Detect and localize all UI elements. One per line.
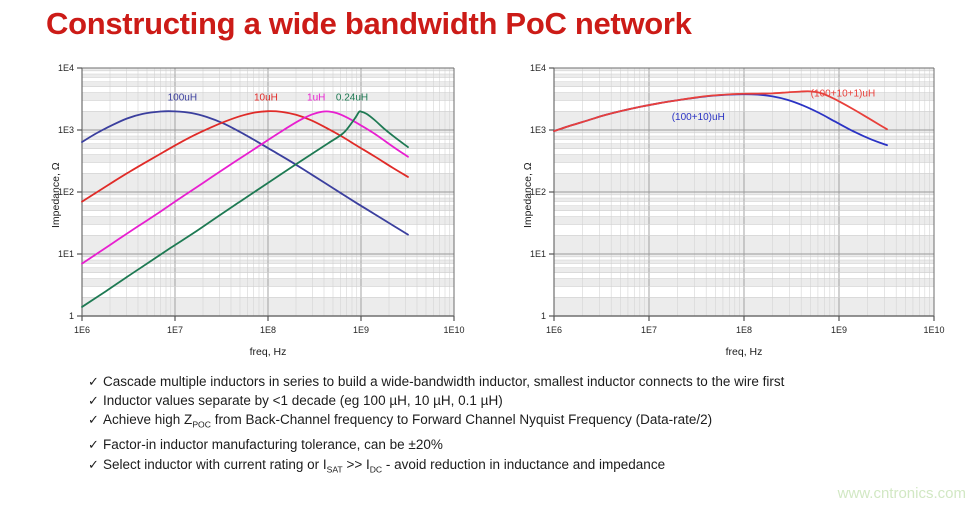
bullet-subscript: DC (370, 464, 382, 474)
svg-text:1E6: 1E6 (74, 325, 90, 335)
chart-right-svg: 1E41E31E21E111E61E71E81E91E10(100+10)uH(… (498, 58, 950, 358)
svg-text:1E10: 1E10 (443, 325, 464, 335)
svg-text:1E6: 1E6 (546, 325, 562, 335)
page-title: Constructing a wide bandwidth PoC networ… (46, 6, 692, 42)
series-label-(100+10+1)uH: (100+10+1)uH (811, 89, 876, 100)
bullet-text-post: from Back-Channel frequency to Forward C… (211, 412, 712, 427)
check-icon: ✓ (88, 435, 103, 454)
svg-text:1E4: 1E4 (58, 63, 74, 73)
bullet-text: Cascade multiple inductors in series to … (103, 372, 784, 391)
bullet-text-pre: Achieve high Z (103, 412, 192, 427)
series-label-10uH: 10uH (254, 92, 278, 103)
bullet-list: ✓ Cascade multiple inductors in series t… (88, 372, 968, 479)
list-item: ✓ Cascade multiple inductors in series t… (88, 372, 968, 391)
chart-left: 1E41E31E21E111E61E71E81E91E10100uH10uH1u… (34, 58, 474, 358)
chart-right-y-axis-label: Impedance, Ω (522, 162, 534, 228)
bullet-text: Achieve high ZPOC from Back-Channel freq… (103, 410, 712, 435)
svg-text:1E1: 1E1 (530, 249, 546, 259)
chart-left-y-axis-label: Impedance, Ω (50, 162, 62, 228)
series-label-0.24uH: 0.24uH (336, 92, 368, 103)
svg-text:1: 1 (541, 311, 546, 321)
svg-text:1E9: 1E9 (831, 325, 847, 335)
svg-text:1E3: 1E3 (530, 125, 546, 135)
svg-text:1E3: 1E3 (58, 125, 74, 135)
svg-text:1E8: 1E8 (736, 325, 752, 335)
svg-text:1: 1 (69, 311, 74, 321)
check-icon: ✓ (88, 372, 103, 391)
list-item: ✓ Factor-in inductor manufacturing toler… (88, 435, 968, 454)
chart-left-x-axis-label: freq, Hz (82, 346, 454, 358)
svg-text:1E1: 1E1 (58, 249, 74, 259)
watermark: www.cntronics.com (838, 485, 966, 502)
bullet-subscript: SAT (327, 464, 343, 474)
check-icon: ✓ (88, 410, 103, 429)
bullet-text: Inductor values separate by <1 decade (e… (103, 391, 503, 410)
chart-right-x-axis-label: freq, Hz (554, 346, 934, 358)
series-label-1uH: 1uH (307, 92, 325, 103)
svg-text:1E9: 1E9 (353, 325, 369, 335)
series-label-100uH: 100uH (168, 92, 197, 103)
bullet-subscript: POC (192, 420, 211, 430)
list-item: ✓ Achieve high ZPOC from Back-Channel fr… (88, 410, 968, 435)
bullet-text-mid: >> I (343, 457, 370, 472)
check-icon: ✓ (88, 391, 103, 410)
svg-text:1E7: 1E7 (167, 325, 183, 335)
bullet-text-pre: Select inductor with current rating or I (103, 457, 327, 472)
chart-left-svg: 1E41E31E21E111E61E71E81E91E10100uH10uH1u… (34, 58, 474, 358)
svg-text:1E8: 1E8 (260, 325, 276, 335)
svg-text:1E10: 1E10 (923, 325, 944, 335)
svg-text:1E7: 1E7 (641, 325, 657, 335)
list-item: ✓ Select inductor with current rating or… (88, 455, 968, 480)
chart-right: 1E41E31E21E111E61E71E81E91E10(100+10)uH(… (498, 58, 950, 358)
svg-text:1E4: 1E4 (530, 63, 546, 73)
bullet-text-post: - avoid reduction in inductance and impe… (382, 457, 665, 472)
slide-root: Constructing a wide bandwidth PoC networ… (0, 0, 978, 507)
check-icon: ✓ (88, 455, 103, 474)
bullet-text: Factor-in inductor manufacturing toleran… (103, 435, 443, 454)
bullet-text: Select inductor with current rating or I… (103, 455, 665, 480)
list-item: ✓ Inductor values separate by <1 decade … (88, 391, 968, 410)
series-label-(100+10)uH: (100+10)uH (672, 112, 725, 123)
